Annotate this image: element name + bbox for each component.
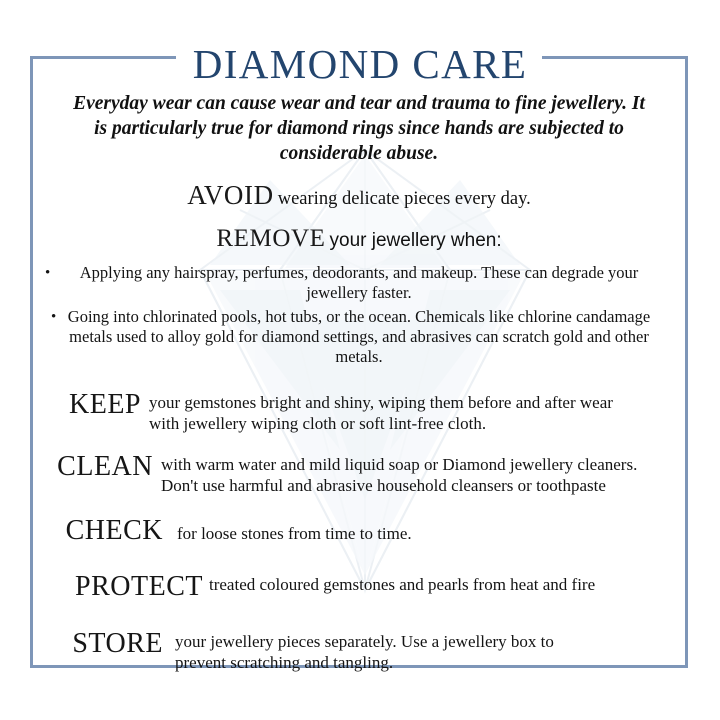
instruction-keyword: CHECK — [33, 515, 163, 545]
diamond-care-poster: DIAMOND CARE Everyday wear can cause wea… — [0, 0, 720, 720]
remove-row: REMOVE your jewellery when: — [33, 224, 685, 257]
poster-content: Everyday wear can cause wear and tear an… — [33, 59, 685, 673]
list-item-text: Going into chlorinated pools, hot tubs, … — [68, 307, 650, 366]
bullet-icon: • — [51, 307, 56, 327]
instruction-text: with warm water and mild liquid soap or … — [153, 451, 649, 496]
instruction-row-protect: PROTECT treated coloured gemstones and p… — [33, 571, 685, 601]
instruction-keyword: STORE — [33, 628, 163, 658]
instruction-text: for loose stones from time to time. — [163, 515, 685, 545]
list-item: • Applying any hairspray, perfumes, deod… — [67, 263, 651, 303]
intro-paragraph: Everyday wear can cause wear and tear an… — [71, 91, 647, 166]
instruction-row-store: STORE your jewellery pieces separately. … — [33, 628, 685, 673]
remove-keyword: REMOVE — [216, 225, 325, 252]
avoid-keyword: AVOID — [187, 180, 274, 210]
instruction-text: your gemstones bright and shiny, wiping … — [141, 389, 641, 434]
list-item-text: Applying any hairspray, perfumes, deodor… — [80, 263, 639, 302]
instruction-row-check: CHECK for loose stones from time to time… — [33, 515, 685, 545]
instruction-keyword: CLEAN — [33, 451, 153, 481]
instruction-row-clean: CLEAN with warm water and mild liquid so… — [33, 451, 685, 496]
instruction-keyword: KEEP — [33, 389, 141, 419]
avoid-text: wearing delicate pieces every day. — [278, 189, 531, 209]
instruction-text: treated coloured gemstones and pearls fr… — [203, 571, 639, 596]
remove-bullet-list: • Applying any hairspray, perfumes, deod… — [33, 263, 685, 367]
instruction-row-keep: KEEP your gemstones bright and shiny, wi… — [33, 389, 685, 434]
list-item: • Going into chlorinated pools, hot tubs… — [67, 307, 651, 367]
instruction-keyword: PROTECT — [33, 571, 203, 601]
avoid-row: AVOID wearing delicate pieces every day. — [33, 180, 685, 215]
instruction-text: your jewellery pieces separately. Use a … — [163, 628, 605, 673]
bullet-icon: • — [45, 263, 50, 283]
remove-text: your jewellery when: — [330, 230, 502, 251]
